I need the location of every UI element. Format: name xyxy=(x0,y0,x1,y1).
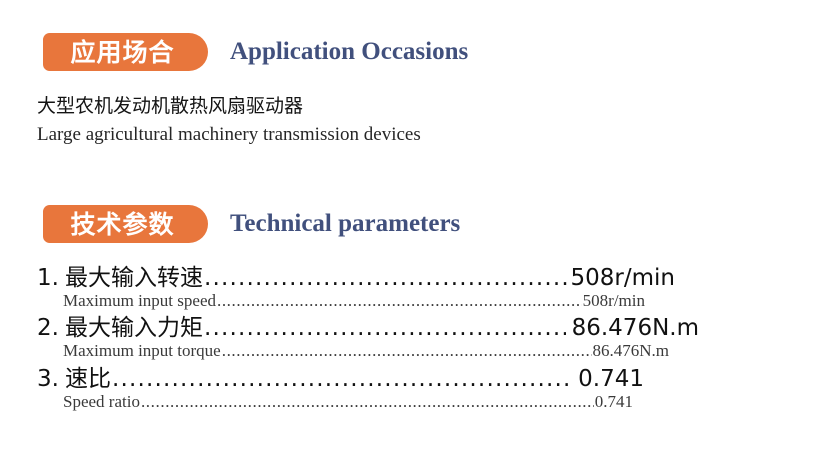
parameter-label-cn: 最大输入转速 xyxy=(65,264,203,292)
parameter-index: 3. xyxy=(37,365,59,393)
product-spec-page: 应用场合 Application Occasions 大型农机发动机散热风扇驱动… xyxy=(0,0,836,464)
dot-leader: ........................................… xyxy=(204,314,566,342)
parameter-label-en: Maximum input torque xyxy=(63,341,221,361)
section-title-technical: Technical parameters xyxy=(230,210,460,238)
parameter-row-en: Speed ratio ............................… xyxy=(37,392,797,412)
dot-leader: ........................................… xyxy=(204,264,569,292)
parameter-row-en: Maximum input speed ....................… xyxy=(37,291,797,311)
section-badge-label-technical: 技术参数 xyxy=(70,212,174,237)
parameter-value-en: 0.741 xyxy=(595,392,633,412)
section-badge-label-application: 应用场合 xyxy=(70,40,174,65)
list-item: 1. 最大输入转速 ..............................… xyxy=(37,264,797,311)
parameter-index: 1. xyxy=(37,264,59,292)
section-badge-application: 应用场合 xyxy=(43,33,208,71)
section-title-application: Application Occasions xyxy=(230,38,468,66)
parameter-index: 2. xyxy=(37,314,59,342)
parameter-label-cn: 最大输入力矩 xyxy=(65,314,203,342)
application-body: 大型农机发动机散热风扇驱动器 Large agricultural machin… xyxy=(37,94,421,147)
section-header-application: 应用场合 Application Occasions xyxy=(43,33,468,71)
parameter-label-en: Speed ratio xyxy=(63,392,140,412)
section-badge-technical: 技术参数 xyxy=(43,205,208,243)
dot-leader: ........................................… xyxy=(112,365,572,393)
parameter-row-en: Maximum input torque ...................… xyxy=(37,341,797,361)
parameter-label-en: Maximum input speed xyxy=(63,291,216,311)
parameter-value-cn: 86.476N.m xyxy=(567,314,699,342)
parameter-row-cn: 1. 最大输入转速 ..............................… xyxy=(37,264,797,292)
parameter-list: 1. 最大输入转速 ..............................… xyxy=(37,264,797,415)
parameter-value-en: 508r/min xyxy=(583,291,645,311)
dot-leader: ........................................… xyxy=(222,341,592,361)
list-item: 3. 速比 ..................................… xyxy=(37,365,797,412)
parameter-label-cn: 速比 xyxy=(65,365,111,393)
section-header-technical: 技术参数 Technical parameters xyxy=(43,205,460,243)
application-text-en: Large agricultural machinery transmissio… xyxy=(37,122,421,148)
application-text-cn: 大型农机发动机散热风扇驱动器 xyxy=(37,94,421,120)
parameter-value-cn: 508r/min xyxy=(570,264,675,292)
parameter-value-en: 86.476N.m xyxy=(593,341,670,361)
dot-leader: ........................................… xyxy=(217,291,582,311)
list-item: 2. 最大输入力矩 ..............................… xyxy=(37,314,797,361)
parameter-value-cn: 0.741 xyxy=(573,365,644,393)
dot-leader: ........................................… xyxy=(141,392,594,412)
parameter-row-cn: 3. 速比 ..................................… xyxy=(37,365,797,393)
parameter-row-cn: 2. 最大输入力矩 ..............................… xyxy=(37,314,797,342)
